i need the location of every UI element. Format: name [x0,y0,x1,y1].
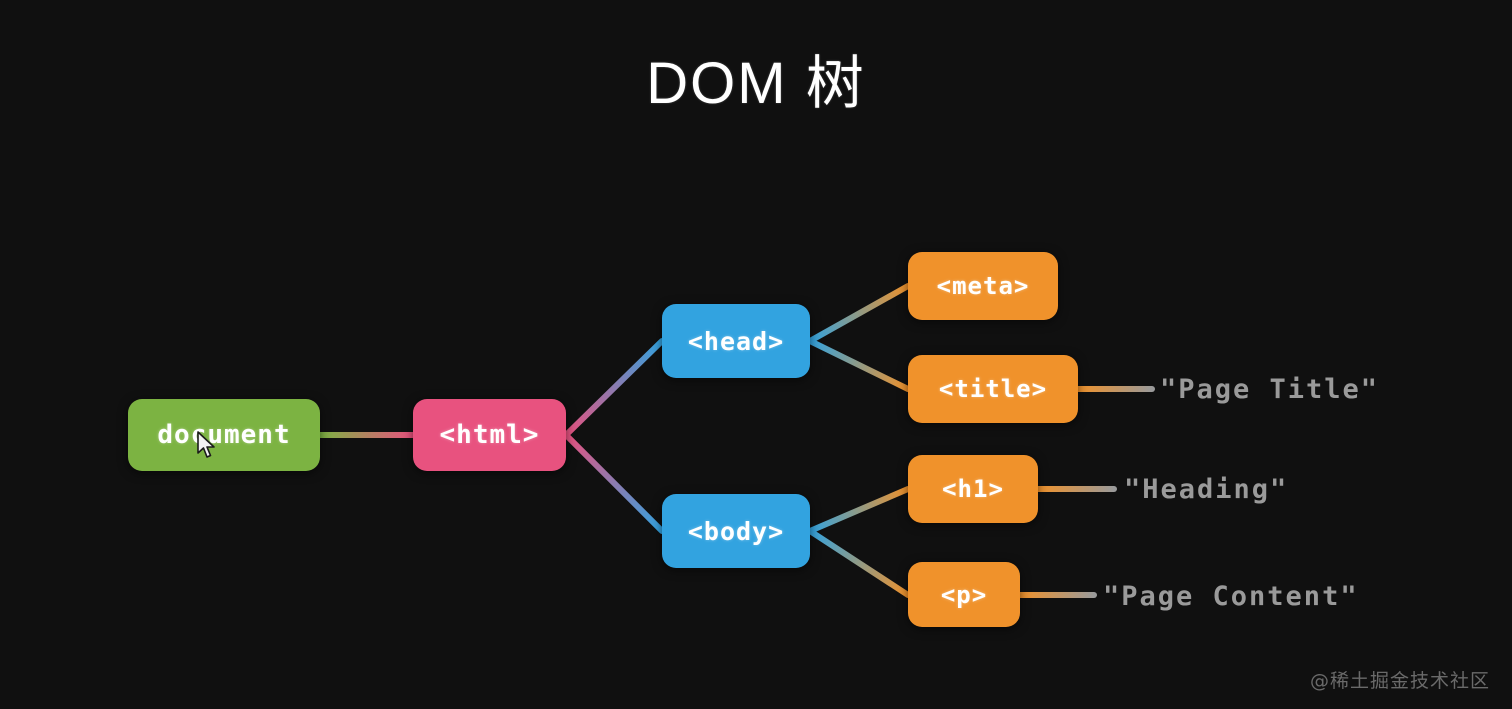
tree-node-head[interactable]: <head> [662,304,810,378]
tree-node-h1[interactable]: <h1> [908,455,1038,523]
tree-edge-head-to-title [810,341,908,389]
tree-text-node-content-text: "Page Content" [1103,581,1359,612]
tree-node-body[interactable]: <body> [662,494,810,568]
tree-text-node-heading-text: "Heading" [1124,474,1288,505]
tree-text-node-title-text: "Page Title" [1160,374,1379,405]
page-title: DOM 树 [0,36,1512,120]
tree-node-title[interactable]: <title> [908,355,1078,423]
tree-edge-html-to-body [566,435,662,531]
tree-node-p[interactable]: <p> [908,562,1020,627]
tree-node-html[interactable]: <html> [413,399,566,471]
dom-tree-slide: DOM 树 document<html><head><body><meta><t… [0,0,1512,709]
tree-node-meta[interactable]: <meta> [908,252,1058,320]
tree-edge-body-to-h1 [810,489,908,531]
tree-edge-html-to-head [566,341,662,435]
watermark: @稀土掘金技术社区 [1310,666,1490,693]
tree-edge-body-to-p [810,531,908,595]
tree-edge-head-to-meta [810,286,908,341]
tree-node-document[interactable]: document [128,399,320,471]
